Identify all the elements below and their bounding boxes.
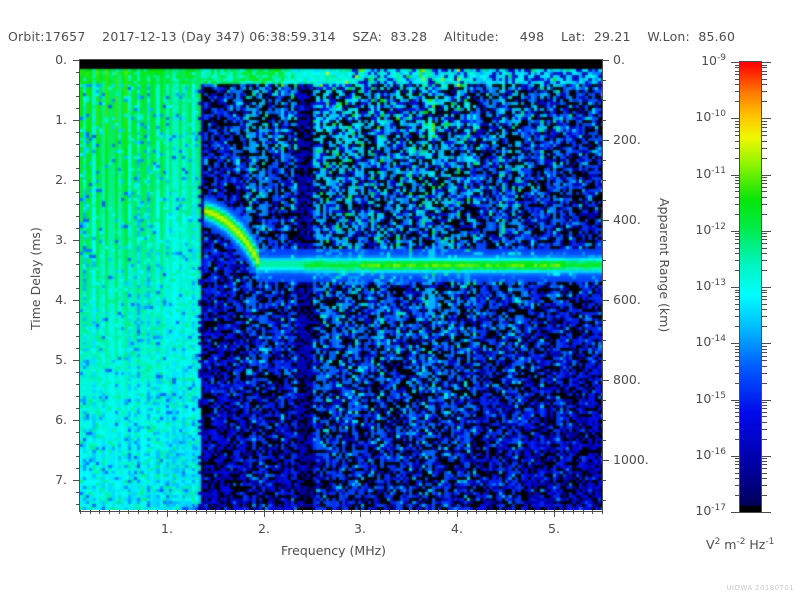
- colorbar-tick-minor-left: [735, 290, 740, 291]
- metadata-header: Orbit:17657 2017-12-13 (Day 347) 06:38:5…: [8, 29, 792, 49]
- orbit-label: Orbit:: [8, 29, 45, 44]
- colorbar-tick-major-left: [731, 512, 740, 513]
- colorbar-tick-major-left: [731, 118, 740, 119]
- x-tick: [563, 510, 564, 514]
- colorbar-tick-minor-right: [762, 127, 767, 128]
- observation-time: 06:38:59.314: [249, 29, 335, 44]
- colorbar-tick-minor-right: [762, 309, 767, 310]
- colorbar-tick-minor-right: [762, 461, 767, 462]
- x-tick: [99, 510, 100, 514]
- y-tick-right: [602, 340, 606, 341]
- colorbar-tick-minor-left: [735, 204, 740, 205]
- colorbar-tick-minor-right: [762, 177, 767, 178]
- colorbar-tick-minor-right: [762, 197, 767, 198]
- colorbar-tick-minor-left: [735, 233, 740, 234]
- x-tick: [380, 510, 381, 514]
- colorbar-tick-major-left: [731, 175, 740, 176]
- x-tick: [186, 510, 187, 514]
- y-tick-right: [602, 80, 606, 81]
- y-tick-right: [602, 400, 606, 401]
- colorbar-tick-minor-left: [735, 326, 740, 327]
- x-tick: [273, 510, 274, 514]
- colorbar-tick-minor-right: [762, 65, 767, 66]
- colorbar-tick-minor-left: [735, 304, 740, 305]
- colorbar-tick-major-right: [762, 118, 771, 119]
- colorbar-tick-minor-right: [762, 79, 767, 80]
- y-tick-left: [73, 420, 80, 421]
- colorbar-tick-minor-left: [735, 292, 740, 293]
- x-tick: [457, 510, 458, 517]
- colorbar-tick-minor-right: [762, 260, 767, 261]
- colorbar-tick-minor-left: [735, 191, 740, 192]
- colorbar-tick-minor-left: [735, 243, 740, 244]
- colorbar-tick-minor-right: [762, 422, 767, 423]
- colorbar-tick-minor-left: [735, 352, 740, 353]
- y-tick-right: [602, 240, 606, 241]
- colorbar-tick-major-left: [731, 456, 740, 457]
- colorbar-exponent: -10: [711, 109, 726, 119]
- colorbar-mantissa: 10: [695, 391, 711, 406]
- colorbar-frame-bottom: [739, 512, 762, 513]
- x-tick: [322, 510, 323, 514]
- x-tick: [583, 510, 584, 514]
- colorbar-tick-minor-left: [735, 214, 740, 215]
- y-tick-right: [602, 300, 609, 301]
- sza-value: 83.28: [391, 29, 428, 44]
- colorbar-tick-minor-right: [762, 464, 767, 465]
- x-tick: [109, 510, 110, 514]
- colorbar-tick-minor-left: [735, 468, 740, 469]
- colorbar-tick-minor-left: [735, 121, 740, 122]
- colorbar-tick-minor-right: [762, 366, 767, 367]
- colorbar-tick-label: 10-16: [695, 447, 726, 462]
- y-tick-label-right: 800.: [613, 372, 641, 387]
- colorbar-tick-minor-right: [762, 485, 767, 486]
- colorbar-tick-minor-right: [762, 468, 767, 469]
- colorbar-tick-minor-left: [735, 84, 740, 85]
- colorbar-tick-minor-right: [762, 74, 767, 75]
- y-tick-label-left: 3.: [55, 232, 67, 247]
- colorbar-tick-minor-right: [762, 236, 767, 237]
- colorbar-tick-minor-left: [735, 180, 740, 181]
- x-tick: [215, 510, 216, 514]
- colorbar-tick-major-left: [731, 62, 740, 63]
- colorbar-tick-minor-right: [762, 91, 767, 92]
- x-tick: [119, 510, 120, 514]
- colorbar-tick-minor-right: [762, 352, 767, 353]
- y-tick-left: [73, 180, 80, 181]
- colorbar-tick-minor-left: [735, 74, 740, 75]
- colorbar-tick-label: 10-9: [701, 53, 726, 68]
- x-tick: [331, 510, 332, 514]
- colorbar-tick-minor-left: [735, 405, 740, 406]
- colorbar-tick-minor-right: [762, 141, 767, 142]
- colorbar-tick-major-right: [762, 175, 771, 176]
- y-tick-label-left: 0.: [55, 52, 67, 67]
- colorbar-tick-minor-left: [735, 346, 740, 347]
- x-tick: [283, 510, 284, 514]
- colorbar-exponent: -11: [711, 166, 726, 176]
- colorbar-tick-minor-right: [762, 71, 767, 72]
- colorbar-tick-minor-right: [762, 191, 767, 192]
- colorbar-tick-minor-right: [762, 304, 767, 305]
- colorbar-tick-minor-right: [762, 248, 767, 249]
- colorbar-tick-minor-right: [762, 408, 767, 409]
- y-tick-right: [602, 320, 606, 321]
- colorbar-tick-minor-left: [735, 124, 740, 125]
- colorbar-tick-label: 10-12: [695, 222, 726, 237]
- colorbar-tick-minor-left: [735, 299, 740, 300]
- colorbar-unit-label: V2 m-2 Hz-1: [706, 537, 774, 552]
- colorbar-tick-minor-right: [762, 349, 767, 350]
- colorbar-tick-minor-left: [735, 270, 740, 271]
- colorbar-exponent: -16: [711, 447, 726, 457]
- x-tick: [418, 510, 419, 514]
- y-tick-left: [73, 480, 80, 481]
- y-tick-label-left: 4.: [55, 292, 67, 307]
- colorbar-tick-minor-left: [735, 71, 740, 72]
- colorbar-tick-minor-left: [735, 135, 740, 136]
- observation-date: 2017-12-13 (Day 347): [102, 29, 245, 44]
- colorbar-tick-minor-right: [762, 239, 767, 240]
- y-tick-right: [602, 360, 606, 361]
- colorbar-exponent: -15: [711, 391, 726, 401]
- colorbar-tick-minor-left: [735, 79, 740, 80]
- colorbar-tick-minor-right: [762, 290, 767, 291]
- colorbar-tick-minor-left: [735, 485, 740, 486]
- colorbar-tick-major-left: [731, 287, 740, 288]
- colorbar-tick-minor-right: [762, 270, 767, 271]
- x-tick: [196, 510, 197, 514]
- y-tick-label-right: 200.: [613, 132, 641, 147]
- colorbar-tick-minor-right: [762, 373, 767, 374]
- altitude-label: Altitude:: [444, 29, 499, 44]
- altitude-value: 498: [520, 29, 544, 44]
- colorbar-mantissa: 10: [695, 334, 711, 349]
- colorbar-tick-minor-left: [735, 260, 740, 261]
- y-tick-right: [602, 140, 609, 141]
- colorbar-tick-minor-left: [735, 473, 740, 474]
- x-tick: [409, 510, 410, 514]
- colorbar-tick-minor-left: [735, 67, 740, 68]
- colorbar-tick-major-right: [762, 343, 771, 344]
- y-tick-right: [602, 500, 606, 501]
- axis-line-right: [602, 60, 603, 511]
- colorbar-tick-minor-right: [762, 180, 767, 181]
- colorbar: [740, 62, 761, 512]
- colorbar-mantissa: 10: [695, 222, 711, 237]
- x-tick: [302, 510, 303, 514]
- colorbar-tick-minor-right: [762, 383, 767, 384]
- wlon-value: 85.60: [698, 29, 735, 44]
- colorbar-tick-minor-right: [762, 84, 767, 85]
- colorbar-mantissa: 10: [695, 278, 711, 293]
- x-tick: [293, 510, 294, 514]
- y-tick-right: [602, 120, 606, 121]
- colorbar-tick-minor-left: [735, 478, 740, 479]
- colorbar-tick-minor-left: [735, 309, 740, 310]
- y-tick-right: [602, 440, 606, 441]
- colorbar-tick-minor-left: [735, 101, 740, 102]
- x-tick: [573, 510, 574, 514]
- ionogram-heatmap: [80, 60, 602, 510]
- x-tick: [467, 510, 468, 514]
- x-tick: [341, 510, 342, 514]
- colorbar-tick-minor-left: [735, 402, 740, 403]
- colorbar-tick-minor-right: [762, 346, 767, 347]
- colorbar-tick-minor-left: [735, 356, 740, 357]
- colorbar-tick-minor-left: [735, 383, 740, 384]
- colorbar-frame-top: [739, 61, 762, 62]
- colorbar-tick-minor-left: [735, 127, 740, 128]
- colorbar-tick-major-right: [762, 62, 771, 63]
- colorbar-tick-minor-right: [762, 356, 767, 357]
- colorbar-tick-minor-left: [735, 429, 740, 430]
- colorbar-tick-minor-right: [762, 478, 767, 479]
- y-tick-right: [602, 480, 606, 481]
- x-tick: [128, 510, 129, 514]
- colorbar-exponent: -13: [711, 278, 726, 288]
- colorbar-tick-minor-right: [762, 316, 767, 317]
- y-tick-right: [602, 380, 609, 381]
- colorbar-tick-minor-right: [762, 326, 767, 327]
- y-tick-right: [602, 220, 609, 221]
- colorbar-tick-minor-left: [735, 183, 740, 184]
- y-tick-right: [602, 60, 609, 61]
- y-tick-left: [73, 60, 80, 61]
- y-tick-label-left: 6.: [55, 412, 67, 427]
- x-tick: [264, 510, 265, 517]
- x-tick: [496, 510, 497, 514]
- y-tick-right: [602, 460, 609, 461]
- colorbar-tick-minor-right: [762, 495, 767, 496]
- x-tick: [177, 510, 178, 514]
- colorbar-mantissa: 10: [695, 503, 711, 518]
- y-tick-label-left: 1.: [55, 112, 67, 127]
- axis-line-top: [79, 59, 603, 60]
- x-tick-label: 2.: [258, 521, 270, 536]
- x-tick-label: 3.: [354, 521, 366, 536]
- colorbar-tick-minor-right: [762, 458, 767, 459]
- colorbar-tick-minor-right: [762, 473, 767, 474]
- colorbar-tick-minor-right: [762, 439, 767, 440]
- x-tick: [534, 510, 535, 514]
- wlon-label: W.Lon:: [647, 29, 690, 44]
- colorbar-tick-minor-right: [762, 253, 767, 254]
- x-tick: [80, 510, 81, 514]
- x-tick: [525, 510, 526, 514]
- x-tick: [389, 510, 390, 514]
- x-tick: [476, 510, 477, 514]
- credit-watermark: UIOWA 20180701: [727, 584, 794, 592]
- colorbar-tick-minor-right: [762, 131, 767, 132]
- colorbar-tick-minor-right: [762, 405, 767, 406]
- colorbar-exponent: -14: [711, 334, 726, 344]
- colorbar-tick-minor-right: [762, 67, 767, 68]
- unit-m: m: [720, 537, 736, 552]
- colorbar-tick-minor-left: [735, 495, 740, 496]
- lat-label: Lat:: [561, 29, 586, 44]
- colorbar-tick-minor-left: [735, 65, 740, 66]
- colorbar-tick-minor-right: [762, 135, 767, 136]
- colorbar-tick-minor-left: [735, 373, 740, 374]
- x-tick: [351, 510, 352, 514]
- colorbar-tick-minor-left: [735, 148, 740, 149]
- colorbar-tick-minor-left: [735, 464, 740, 465]
- colorbar-tick-major-right: [762, 456, 771, 457]
- x-tick-label: 4.: [451, 521, 463, 536]
- colorbar-tick-minor-right: [762, 299, 767, 300]
- colorbar-tick-minor-left: [735, 458, 740, 459]
- colorbar-tick-minor-right: [762, 429, 767, 430]
- colorbar-tick-minor-right: [762, 187, 767, 188]
- colorbar-tick-minor-left: [735, 141, 740, 142]
- colorbar-tick-minor-right: [762, 204, 767, 205]
- x-tick: [360, 510, 361, 517]
- x-tick: [505, 510, 506, 514]
- x-tick: [148, 510, 149, 514]
- colorbar-tick-label: 10-10: [695, 109, 726, 124]
- colorbar-tick-major-left: [731, 400, 740, 401]
- colorbar-tick-minor-left: [735, 408, 740, 409]
- y-tick-label-right: 600.: [613, 292, 641, 307]
- colorbar-tick-minor-right: [762, 121, 767, 122]
- colorbar-tick-minor-right: [762, 124, 767, 125]
- y-tick-label-left: 7.: [55, 472, 67, 487]
- colorbar-tick-major-right: [762, 287, 771, 288]
- colorbar-tick-label: 10-13: [695, 278, 726, 293]
- y-tick-right: [602, 260, 606, 261]
- x-tick: [428, 510, 429, 514]
- colorbar-tick-minor-left: [735, 296, 740, 297]
- y-tick-right: [602, 200, 606, 201]
- x-tick-label: 1.: [161, 521, 173, 536]
- sza-label: SZA:: [352, 29, 382, 44]
- y-axis-title-right: Apparent Range (km): [657, 198, 672, 332]
- y-tick-label-left: 5.: [55, 352, 67, 367]
- colorbar-tick-minor-right: [762, 158, 767, 159]
- colorbar-tick-minor-left: [735, 316, 740, 317]
- colorbar-tick-minor-right: [762, 402, 767, 403]
- colorbar-exponent: -12: [711, 222, 726, 232]
- x-tick: [438, 510, 439, 514]
- x-tick: [225, 510, 226, 514]
- colorbar-tick-minor-left: [735, 412, 740, 413]
- x-tick: [312, 510, 313, 514]
- x-tick: [592, 510, 593, 514]
- colorbar-tick-minor-left: [735, 91, 740, 92]
- x-tick: [90, 510, 91, 514]
- colorbar-tick-minor-left: [735, 236, 740, 237]
- colorbar-tick-minor-left: [735, 366, 740, 367]
- lat-value: 29.21: [594, 29, 631, 44]
- x-tick: [554, 510, 555, 517]
- x-tick: [447, 510, 448, 514]
- colorbar-mantissa: 10: [695, 166, 711, 181]
- colorbar-tick-major-right: [762, 512, 771, 513]
- x-tick-label: 5.: [548, 521, 560, 536]
- colorbar-tick-minor-left: [735, 349, 740, 350]
- y-tick-left: [73, 120, 80, 121]
- colorbar-tick-minor-right: [762, 148, 767, 149]
- y-axis-title-left: Time Delay (ms): [28, 227, 43, 330]
- y-tick-right: [602, 420, 606, 421]
- colorbar-tick-minor-right: [762, 296, 767, 297]
- colorbar-tick-minor-left: [735, 158, 740, 159]
- y-tick-label-right: 0.: [613, 52, 625, 67]
- x-tick: [486, 510, 487, 514]
- colorbar-mantissa: 10: [695, 447, 711, 462]
- colorbar-tick-minor-left: [735, 239, 740, 240]
- colorbar-tick-minor-right: [762, 292, 767, 293]
- x-tick: [157, 510, 158, 514]
- colorbar-tick-minor-right: [762, 243, 767, 244]
- x-tick: [399, 510, 400, 514]
- colorbar-tick-minor-left: [735, 197, 740, 198]
- colorbar-tick-minor-right: [762, 183, 767, 184]
- unit-hz-exp: -1: [765, 537, 774, 547]
- colorbar-mantissa: 10: [701, 53, 717, 68]
- colorbar-tick-minor-left: [735, 416, 740, 417]
- colorbar-tick-label: 10-11: [695, 166, 726, 181]
- x-tick: [235, 510, 236, 514]
- colorbar-tick-minor-left: [735, 253, 740, 254]
- y-tick-right: [602, 180, 606, 181]
- unit-hz: Hz: [745, 537, 765, 552]
- colorbar-tick-label: 10-15: [695, 391, 726, 406]
- colorbar-tick-minor-left: [735, 422, 740, 423]
- colorbar-tick-minor-left: [735, 131, 740, 132]
- y-tick-right: [602, 160, 606, 161]
- y-tick-label-left: 2.: [55, 172, 67, 187]
- colorbar-tick-minor-right: [762, 214, 767, 215]
- unit-v: V: [706, 537, 715, 552]
- colorbar-tick-minor-left: [735, 439, 740, 440]
- y-tick-right: [602, 100, 606, 101]
- colorbar-exponent: -9: [717, 53, 726, 63]
- colorbar-tick-minor-left: [735, 248, 740, 249]
- colorbar-mantissa: 10: [695, 109, 711, 124]
- colorbar-tick-minor-right: [762, 360, 767, 361]
- orbit-value: 17657: [45, 29, 86, 44]
- y-tick-label-right: 400.: [613, 212, 641, 227]
- x-tick: [206, 510, 207, 514]
- x-tick: [602, 510, 603, 514]
- colorbar-tick-major-right: [762, 400, 771, 401]
- colorbar-tick-minor-left: [735, 461, 740, 462]
- y-tick-left: [73, 360, 80, 361]
- x-tick: [244, 510, 245, 514]
- colorbar-tick-minor-right: [762, 233, 767, 234]
- colorbar-tick-minor-left: [735, 177, 740, 178]
- colorbar-tick-minor-right: [762, 412, 767, 413]
- y-tick-label-right: 1000.: [613, 452, 649, 467]
- colorbar-exponent: -17: [711, 503, 726, 513]
- x-tick: [138, 510, 139, 514]
- x-tick: [370, 510, 371, 514]
- colorbar-tick-minor-left: [735, 187, 740, 188]
- colorbar-tick-label: 10-14: [695, 334, 726, 349]
- x-axis-title: Frequency (MHz): [281, 543, 386, 558]
- x-tick: [515, 510, 516, 514]
- y-tick-right: [602, 280, 606, 281]
- colorbar-tick-major-left: [731, 343, 740, 344]
- x-tick: [167, 510, 168, 517]
- colorbar-tick-minor-left: [735, 360, 740, 361]
- y-tick-left: [73, 240, 80, 241]
- x-tick: [254, 510, 255, 514]
- y-tick-left: [73, 300, 80, 301]
